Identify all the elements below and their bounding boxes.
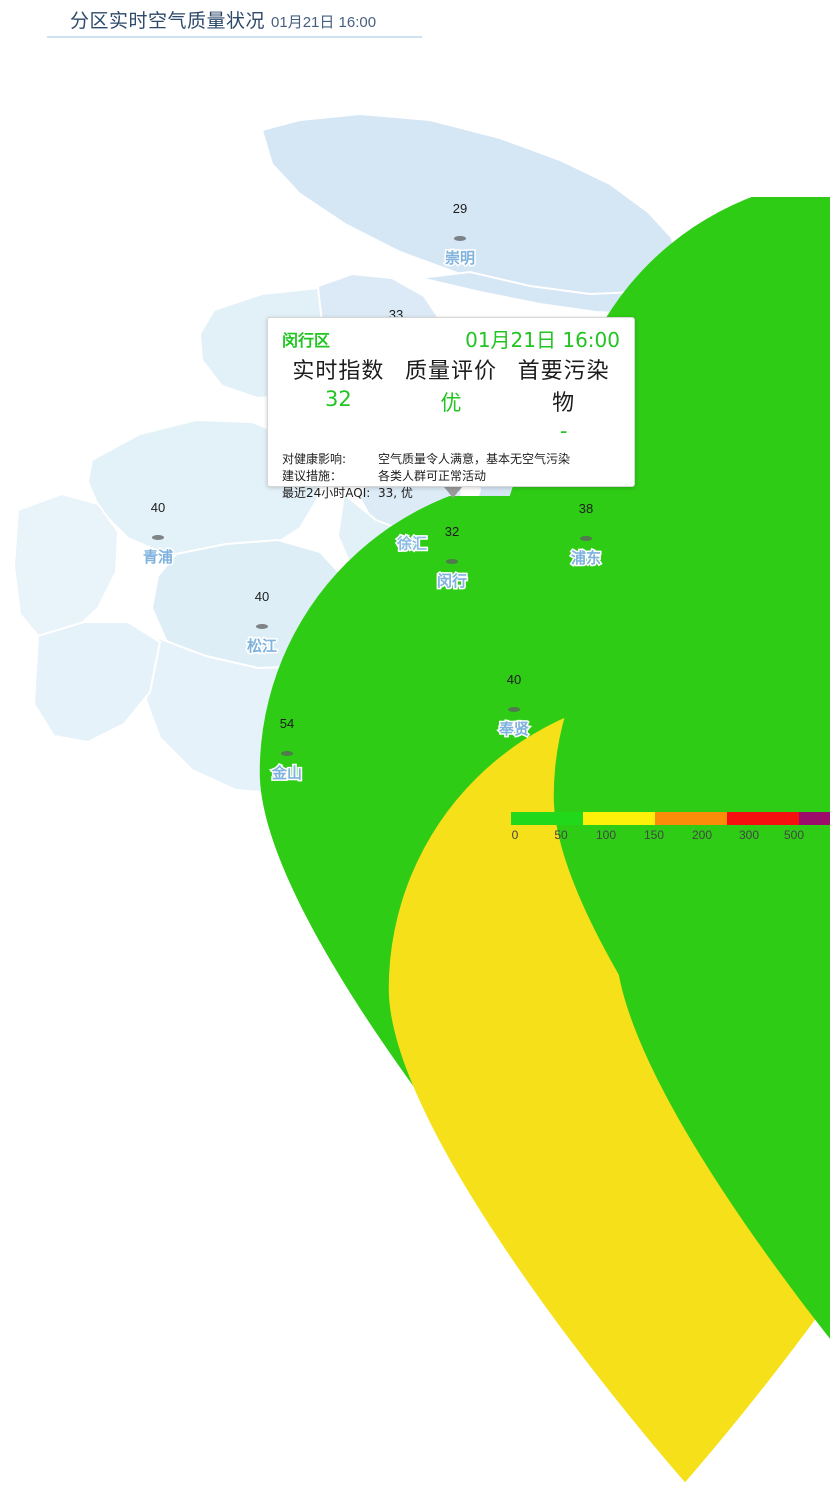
popup-metric-aqi-header: 实时指数 [282, 353, 395, 385]
legend-segment-heavily-polluted [799, 812, 830, 825]
legend-tick-500: 500 [784, 828, 804, 842]
marker-jinshan[interactable]: 54 [270, 712, 304, 756]
aqi-color-legend: 0 50 100 150 200 300 500 [511, 812, 799, 844]
legend-segment-moderate [583, 812, 655, 825]
marker-shadow [256, 624, 268, 629]
marker-value: 38 [569, 501, 603, 516]
popup-metric-columns: 实时指数 32 质量评价 优 首要污染物 - [282, 353, 620, 443]
marker-label-qingpu: 青浦 [143, 546, 173, 567]
legend-color-bar [511, 812, 799, 825]
popup-row-advice: 建议措施： 各类人群可正常活动 [282, 468, 620, 485]
popup-detail-rows: 对健康影响: 空气质量令人满意，基本无空气污染 建议措施： 各类人群可正常活动 … [282, 451, 620, 502]
popup-metric-pollutant-header: 首要污染物 [507, 353, 620, 417]
header-title-group: 分区实时空气质量状况01月21日 16:00 [70, 6, 376, 33]
popup-district-name: 闵行区 [282, 327, 330, 351]
marker-shadow [454, 236, 466, 241]
marker-label-jinshan: 金山 [272, 762, 302, 783]
popup-metric-quality-value: 优 [395, 387, 508, 417]
popup-row-health: 对健康影响: 空气质量令人满意，基本无空气污染 [282, 451, 620, 468]
marker-label-minhang: 闵行 [437, 570, 467, 591]
marker-chongming[interactable]: 29 [443, 197, 477, 241]
legend-segment-good [511, 812, 583, 825]
header-timestamp: 01月21日 16:00 [271, 14, 376, 31]
marker-value: 40 [245, 589, 279, 604]
marker-value: 54 [270, 716, 304, 731]
legend-segment-moderately-polluted [727, 812, 799, 825]
marker-value: 29 [443, 201, 477, 216]
marker-songjiang[interactable]: 40 [245, 585, 279, 629]
popup-metric-pollutant: 首要污染物 - [507, 353, 620, 443]
popup-row-advice-value: 各类人群可正常活动 [378, 468, 620, 485]
region-west-sliver[interactable] [14, 494, 118, 638]
popup-header: 闵行区 01月21日 16:00 [282, 325, 620, 353]
marker-qingpu[interactable]: 40 [141, 496, 175, 540]
page-header: 分区实时空气质量状况01月21日 16:00 [0, 0, 830, 42]
district-info-popup: 闵行区 01月21日 16:00 实时指数 32 质量评价 优 首要污染物 - … [267, 317, 635, 487]
page-title: 分区实时空气质量状况 [70, 10, 265, 32]
map-label-xuhui: 徐汇 [397, 533, 427, 554]
legend-tick-150: 150 [644, 828, 664, 842]
marker-shadow [152, 535, 164, 540]
marker-shadow [446, 559, 458, 564]
popup-row-health-value: 空气质量令人满意，基本无空气污染 [378, 451, 620, 468]
popup-row-aqi24h: 最近24小时AQI: 33, 优 [282, 485, 620, 502]
map-pin-icon [435, 520, 830, 1310]
legend-tick-300: 300 [739, 828, 759, 842]
popup-row-health-label: 对健康影响: [282, 451, 378, 468]
marker-value: 40 [141, 500, 175, 515]
popup-metric-pollutant-value: - [507, 419, 620, 443]
legend-tick-200: 200 [692, 828, 712, 842]
marker-minhang[interactable]: 32 [435, 520, 469, 564]
header-underline [47, 36, 422, 38]
popup-row-aqi24h-label: 最近24小时AQI: [282, 485, 378, 502]
popup-metric-quality-header: 质量评价 [395, 353, 508, 385]
marker-label-songjiang: 松江 [247, 635, 277, 656]
legend-tick-0: 0 [512, 828, 519, 842]
legend-tick-50: 50 [554, 828, 567, 842]
popup-timestamp: 01月21日 16:00 [465, 324, 620, 353]
legend-tick-labels: 0 50 100 150 200 300 500 [511, 828, 799, 844]
popup-metric-aqi: 实时指数 32 [282, 353, 395, 443]
legend-tick-100: 100 [596, 828, 616, 842]
popup-metric-aqi-value: 32 [282, 387, 395, 411]
legend-segment-lightly-polluted [655, 812, 727, 825]
popup-metric-quality: 质量评价 优 [395, 353, 508, 443]
popup-row-aqi24h-value: 33, 优 [378, 485, 620, 502]
popup-row-advice-label: 建议措施： [282, 468, 378, 485]
marker-label-chongming: 崇明 [445, 247, 475, 268]
marker-shadow [281, 751, 293, 756]
marker-value: 32 [435, 524, 469, 539]
